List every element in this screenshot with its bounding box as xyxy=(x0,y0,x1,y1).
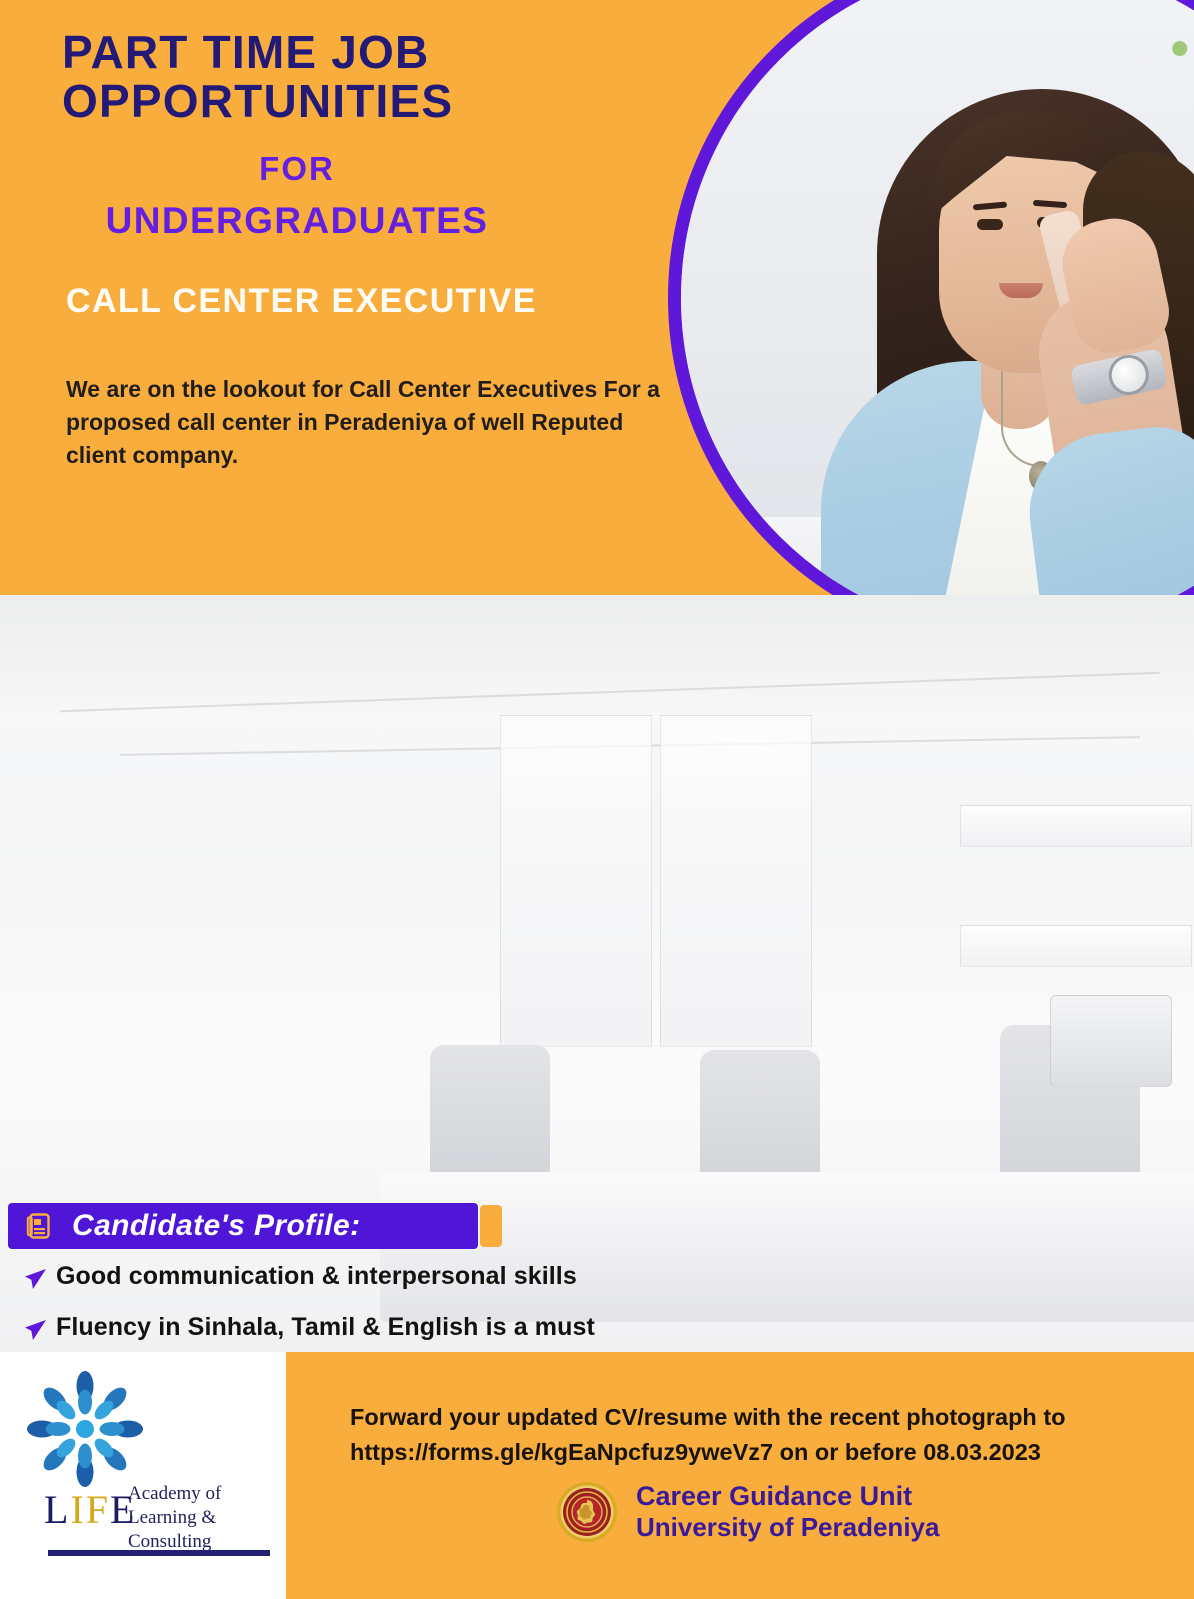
title-line-1: PART TIME JOB xyxy=(62,26,429,78)
life-academy-logo: LIFE Academy of Learning & Consulting xyxy=(18,1368,284,1583)
arrow-bullet-icon xyxy=(22,1267,56,1297)
unit-text: Career Guidance Unit University of Perad… xyxy=(636,1480,939,1544)
university-crest-icon xyxy=(556,1481,618,1543)
bg-ceiling xyxy=(0,595,1194,715)
rosette-icon xyxy=(26,1370,144,1488)
bg-shelf-1 xyxy=(960,805,1192,847)
life-subtitle-line1: Academy of xyxy=(128,1482,284,1506)
banner-accent-tab xyxy=(480,1205,502,1247)
life-wordmark: LIFE xyxy=(44,1486,136,1533)
life-letter-l: L xyxy=(44,1487,70,1532)
candidate-profile-list: Good communication & interpersonal skill… xyxy=(22,1260,982,1352)
woman-on-phone-photo xyxy=(681,0,1194,595)
section-banner-candidate-profile: Candidate's Profile: xyxy=(8,1203,478,1249)
bg-monitor-1 xyxy=(1050,995,1172,1087)
title-line-2: OPPORTUNITIES xyxy=(62,75,453,127)
bg-shelf-2 xyxy=(960,925,1192,967)
audience-label: UNDERGRADUATES xyxy=(62,200,532,242)
application-instructions: Forward your updated CV/resume with the … xyxy=(350,1400,1160,1470)
header-text-block: PART TIME JOB OPPORTUNITIES FOR UNDERGRA… xyxy=(62,28,682,471)
role-title: CALL CENTER EXECUTIVE xyxy=(66,282,682,321)
poster-footer: LIFE Academy of Learning & Consulting Fo… xyxy=(0,1352,1194,1599)
list-item-text: Good communication & interpersonal skill… xyxy=(56,1260,982,1292)
document-card-icon xyxy=(24,1211,54,1241)
career-guidance-unit-block: Career Guidance Unit University of Perad… xyxy=(556,1480,939,1544)
list-item: Fluency in Sinhala, Tamil & English is a… xyxy=(22,1311,982,1348)
university-name: University of Peradeniya xyxy=(636,1512,939,1543)
poster-header: PART TIME JOB OPPORTUNITIES FOR UNDERGRA… xyxy=(0,0,1194,595)
cta-line-2[interactable]: https://forms.gle/kgEaNpcfuz9yweVz7 on o… xyxy=(350,1435,1160,1470)
bg-partition-1 xyxy=(500,715,652,1047)
watch-face xyxy=(1105,351,1152,398)
life-letters-if: IF xyxy=(70,1487,110,1532)
header-photo-circle xyxy=(668,0,1194,595)
poster-body: Candidate's Profile: Good communication … xyxy=(0,595,1194,1352)
job-poster: PART TIME JOB OPPORTUNITIES FOR UNDERGRA… xyxy=(0,0,1194,1599)
life-underline xyxy=(48,1550,270,1556)
arrow-bullet-icon xyxy=(22,1318,56,1348)
cta-line-1: Forward your updated CV/resume with the … xyxy=(350,1400,1160,1435)
intro-paragraph: We are on the lookout for Call Center Ex… xyxy=(66,373,676,471)
list-item-text: Fluency in Sinhala, Tamil & English is a… xyxy=(56,1311,982,1343)
life-subtitle-line2: Learning & Consulting xyxy=(128,1506,284,1554)
bg-partition-2 xyxy=(660,715,812,1047)
section-title: Candidate's Profile: xyxy=(72,1209,361,1243)
for-label: FOR xyxy=(62,150,532,188)
eye-left xyxy=(977,219,1003,230)
life-subtitle: Academy of Learning & Consulting xyxy=(128,1482,284,1553)
unit-name: Career Guidance Unit xyxy=(636,1480,939,1512)
page-title: PART TIME JOB OPPORTUNITIES xyxy=(62,28,682,126)
list-item: Good communication & interpersonal skill… xyxy=(22,1260,982,1297)
